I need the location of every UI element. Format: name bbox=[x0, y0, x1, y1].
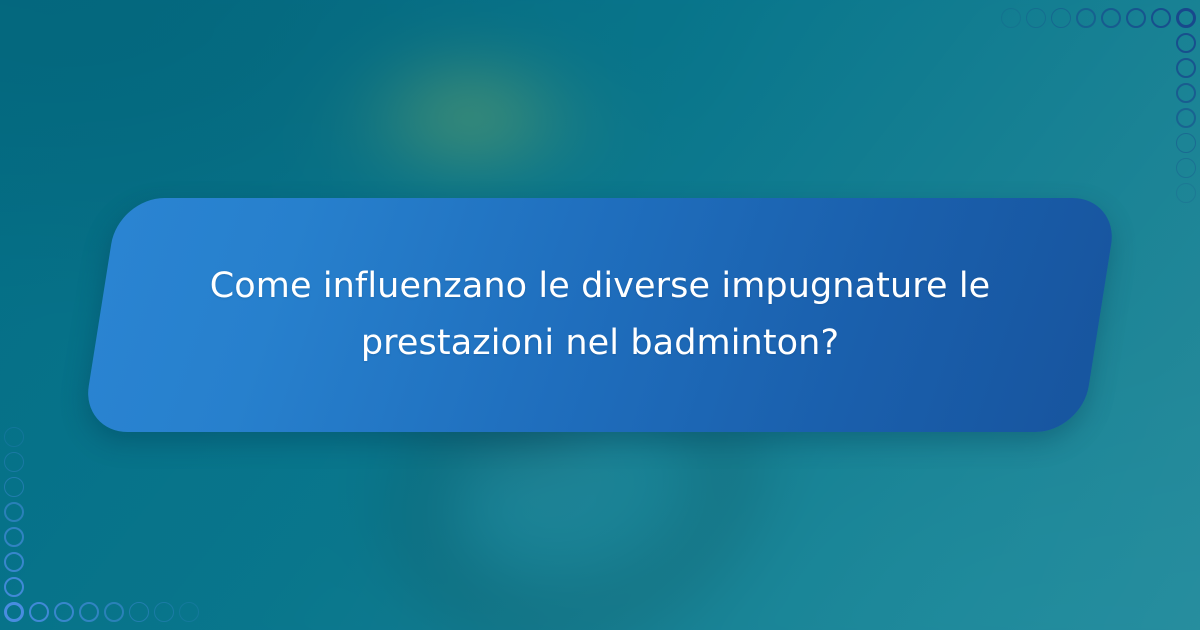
question-card-content: Come influenzano le diverse impugnature … bbox=[100, 198, 1100, 432]
poster-canvas: Come influenzano le diverse impugnature … bbox=[0, 0, 1200, 630]
page-title: Come influenzano le diverse impugnature … bbox=[205, 258, 995, 371]
question-card[interactable]: Come influenzano le diverse impugnature … bbox=[100, 198, 1100, 432]
